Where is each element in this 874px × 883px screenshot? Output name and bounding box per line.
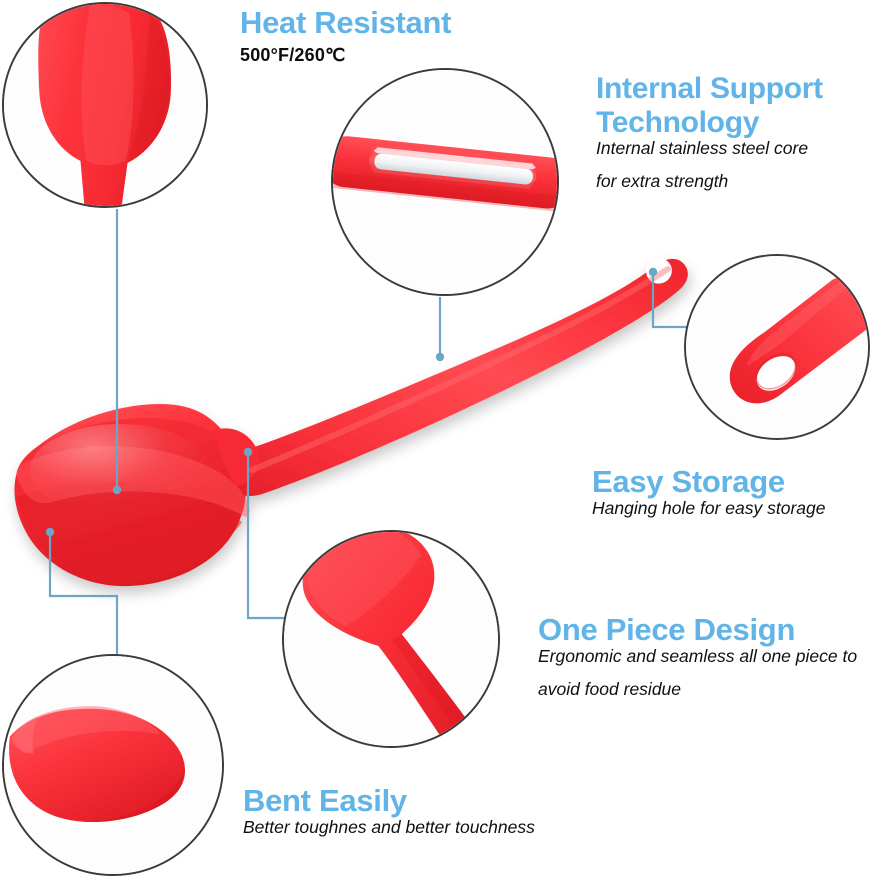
callout-heat-resistant: Heat Resistant 500°F/260℃ — [240, 6, 451, 66]
callout-heading-bent-easily: Bent Easily — [243, 784, 535, 819]
callout-one-piece-design: One Piece Design Ergonomic and seamless … — [538, 613, 857, 699]
callout-subline-onepiece-1: Ergonomic and seamless all one piece to — [538, 648, 857, 666]
callout-subline-internal-1: Internal stainless steel core — [596, 140, 874, 158]
callout-text-layer: Heat Resistant 500°F/260℃ Internal Suppo… — [0, 0, 874, 883]
callout-heading-one-piece-design: One Piece Design — [538, 613, 857, 648]
callout-heading-heat-resistant: Heat Resistant — [240, 6, 451, 41]
callout-heading-easy-storage: Easy Storage — [592, 465, 825, 500]
callout-subline-bent-1: Better toughnes and better touchness — [243, 819, 535, 837]
callout-easy-storage: Easy Storage Hanging hole for easy stora… — [592, 465, 825, 517]
product-infographic: Heat Resistant 500°F/260℃ Internal Suppo… — [0, 0, 874, 883]
callout-subline-storage-1: Hanging hole for easy storage — [592, 500, 825, 518]
callout-subline-onepiece-2: avoid food residue — [538, 681, 857, 699]
callout-bent-easily: Bent Easily Better toughnes and better t… — [243, 784, 535, 836]
callout-subline-internal-2: for extra strength — [596, 173, 874, 191]
callout-internal-support: Internal Support Technology Internal sta… — [596, 72, 874, 191]
callout-spec-temperature: 500°F/260℃ — [240, 45, 451, 66]
callout-heading-internal-support: Internal Support Technology — [596, 72, 874, 140]
